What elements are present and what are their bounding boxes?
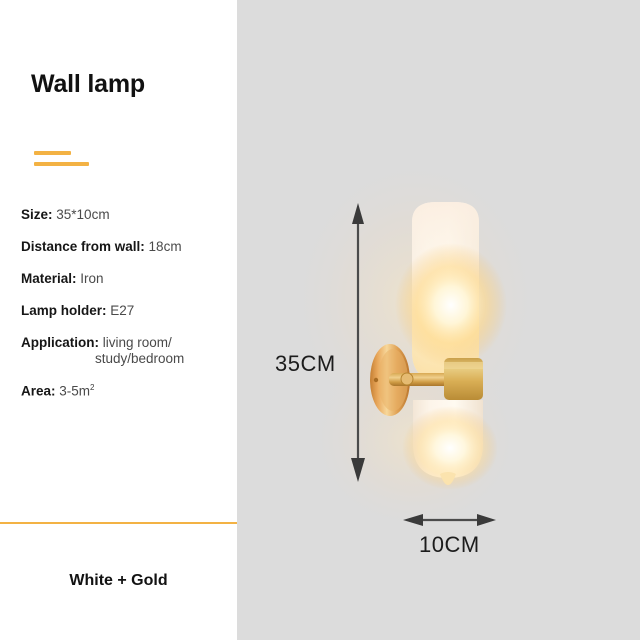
spec-row-area: Area: 3-5m2 <box>21 383 231 400</box>
spec-value: Iron <box>80 271 103 286</box>
spec-label: Material: <box>21 271 77 286</box>
spec-label: Distance from wall: <box>21 239 145 254</box>
accent-dash-bottom <box>34 162 89 166</box>
product-image-panel: 35CM 10CM <box>237 0 640 640</box>
product-spec-page: Wall lamp Size: 35*10cm Distance from wa… <box>0 0 640 640</box>
spec-label: Area: <box>21 384 56 399</box>
lamp-collar <box>444 358 483 400</box>
info-panel: Wall lamp Size: 35*10cm Distance from wa… <box>0 0 237 640</box>
specification-list: Size: 35*10cm Distance from wall: 18cm M… <box>21 207 231 416</box>
spec-row-distance-from-wall: Distance from wall: 18cm <box>21 239 231 256</box>
spec-value: 35*10cm <box>56 207 109 222</box>
spec-label: Size: <box>21 207 53 222</box>
color-variant-label: White + Gold <box>0 572 237 590</box>
spec-value: living room/ <box>103 335 172 350</box>
spec-value: 3-5m <box>59 384 90 399</box>
spec-row-material: Material: Iron <box>21 271 231 288</box>
page-title: Wall lamp <box>31 70 145 99</box>
spec-row-application: Application: living room/ study/bedroom <box>21 335 231 369</box>
spec-label: Application: <box>21 335 99 350</box>
spec-row-size: Size: 35*10cm <box>21 207 231 224</box>
spec-value: 18cm <box>149 239 182 254</box>
dimension-width-label: 10CM <box>419 532 480 558</box>
spec-value: E27 <box>110 303 134 318</box>
spec-value-continued: study/bedroom <box>21 351 231 368</box>
gold-divider <box>0 522 237 524</box>
square-meter-superscript: 2 <box>90 383 94 392</box>
dimension-height-label: 35CM <box>275 351 336 377</box>
spec-row-lamp-holder: Lamp holder: E27 <box>21 303 231 320</box>
accent-dash-top <box>34 151 71 155</box>
spec-label: Lamp holder: <box>21 303 107 318</box>
